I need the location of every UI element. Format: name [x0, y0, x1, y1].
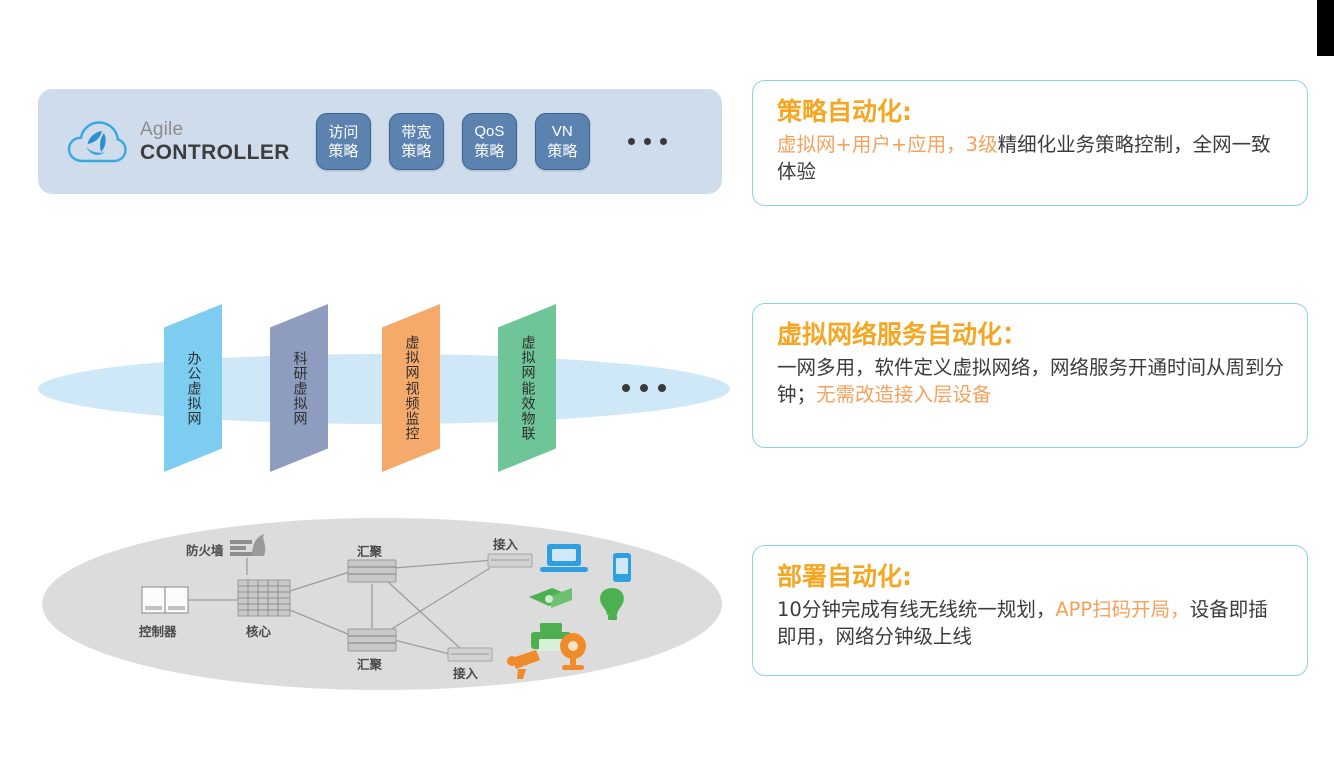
core-switch-icon [238, 580, 290, 616]
topology-label-firewall: 防火墙 [186, 540, 224, 559]
policy-automation-card-body: 虚拟网+用户+应用，3级精细化业务策略控制，全网一致体验 [777, 132, 1285, 186]
chip-bandwidth-policy-line1: 带宽 [401, 123, 431, 141]
policy-automation-card: 策略自动化: 虚拟网+用户+应用，3级精细化业务策略控制，全网一致体验 [752, 80, 1308, 206]
topology-label-access-bottom: 接入 [453, 663, 478, 682]
topology-label-aggregation-top: 汇聚 [357, 541, 382, 560]
vn-plane-research[interactable]: 科研虚拟网 [270, 304, 328, 472]
bulb-icon [600, 588, 624, 620]
chip-qos-policy-line2: 策略 [474, 142, 504, 160]
vn-plane-iot-energy-col-b: 虚拟网 [518, 335, 535, 380]
smartphone-icon [613, 553, 631, 582]
switch-icon-aggregation-top [348, 560, 396, 582]
topology-label-core: 核心 [246, 621, 271, 640]
vn-plane-video-monitor-col-a: 视频监控 [402, 381, 419, 441]
virtual-network-service-automation-card: 虚拟网络服务自动化： 一网多用，软件定义虚拟网络，网络服务开通时间从周到分钟；无… [752, 303, 1308, 448]
deployment-rest: 10分钟完成有线无线统一规划， [777, 598, 1055, 621]
agile-cloud-icon [66, 118, 128, 166]
vn-plane-video-monitor-col-b: 虚拟网 [402, 335, 419, 380]
deployment-automation-card: 部署自动化: 10分钟完成有线无线统一规划，APP扫码开局，设备即插即用，网络分… [752, 545, 1308, 676]
deployment-highlight: APP扫码开局， [1055, 598, 1189, 621]
topology-label-controller: 控制器 [139, 621, 177, 640]
vn-service-card-body: 一网多用，软件定义虚拟网络，网络服务开通时间从周到分钟；无需改造接入层设备 [777, 355, 1285, 409]
topology-label-access-top: 接入 [493, 534, 518, 553]
logo-controller-text: CONTROLLER [140, 142, 290, 163]
surveillance-camera-icon [507, 650, 540, 679]
vn-plane-office-label: 办公虚拟网 [184, 351, 201, 426]
chip-access-policy-line2: 策略 [328, 142, 358, 160]
webcam-icon [560, 633, 586, 670]
deployment-topology-stage: 控制器 防火墙 核心 汇聚 汇聚 接入 接入 [42, 518, 722, 690]
topology-links [188, 558, 494, 655]
access-switch-icon-top [488, 554, 532, 567]
deployment-card-body: 10分钟完成有线无线统一规划，APP扫码开局，设备即插即用，网络分钟级上线 [777, 597, 1285, 651]
chip-vn-policy-line1: VN [552, 123, 573, 141]
agile-controller-strip: Agile CONTROLLER 访问 策略 带宽 策略 QoS 策略 VN 策… [38, 89, 722, 194]
virtual-network-stage: 办公虚拟网 科研虚拟网 视频监控 虚拟网 能效物联 虚拟网 [30, 296, 730, 496]
vn-plane-video-monitor[interactable]: 视频监控 虚拟网 [382, 304, 440, 472]
laptop-icon [540, 544, 588, 572]
vn-service-highlight: 无需改造接入层设备 [816, 383, 992, 406]
vn-service-card-title: 虚拟网络服务自动化： [777, 320, 1285, 350]
policy-chip-group: 访问 策略 带宽 策略 QoS 策略 VN 策略 [316, 113, 667, 170]
cash-icon [529, 588, 572, 608]
logo-agile-text: Agile [140, 120, 290, 139]
vn-plane-iot-energy[interactable]: 能效物联 虚拟网 [498, 304, 556, 472]
chip-vn-policy-line2: 策略 [547, 142, 577, 160]
vn-plane-research-label: 科研虚拟网 [290, 351, 307, 426]
agile-controller-logo: Agile CONTROLLER [66, 118, 290, 166]
chip-bandwidth-policy-line2: 策略 [401, 142, 431, 160]
chip-access-policy-line1: 访问 [328, 123, 358, 141]
policy-automation-card-title: 策略自动化: [777, 97, 1285, 127]
switch-icon-aggregation-bottom [348, 629, 396, 651]
deployment-card-title: 部署自动化: [777, 562, 1285, 592]
chip-bandwidth-policy[interactable]: 带宽 策略 [389, 113, 444, 170]
corner-marker-bar [1317, 0, 1334, 56]
policy-more-dots-icon [628, 138, 667, 145]
topology-label-aggregation-bottom: 汇聚 [357, 654, 382, 673]
access-switch-icon-bottom [448, 648, 492, 661]
policy-automation-highlight: 虚拟网+用户+应用，3级 [777, 133, 998, 156]
slide-canvas: Agile CONTROLLER 访问 策略 带宽 策略 QoS 策略 VN 策… [0, 0, 1334, 783]
vn-more-dots-icon [622, 384, 666, 392]
firewall-icon [230, 534, 265, 556]
chip-vn-policy[interactable]: VN 策略 [535, 113, 590, 170]
vn-plane-iot-energy-label: 能效物联 虚拟网 [518, 335, 535, 441]
vn-plane-video-monitor-label: 视频监控 虚拟网 [402, 335, 419, 441]
chip-access-policy[interactable]: 访问 策略 [316, 113, 371, 170]
vn-plane-iot-energy-col-a: 能效物联 [518, 381, 535, 441]
chip-qos-policy-line1: QoS [474, 123, 504, 141]
chip-qos-policy[interactable]: QoS 策略 [462, 113, 517, 170]
vn-plane-office[interactable]: 办公虚拟网 [164, 304, 222, 472]
server-rack-icon [142, 587, 188, 613]
